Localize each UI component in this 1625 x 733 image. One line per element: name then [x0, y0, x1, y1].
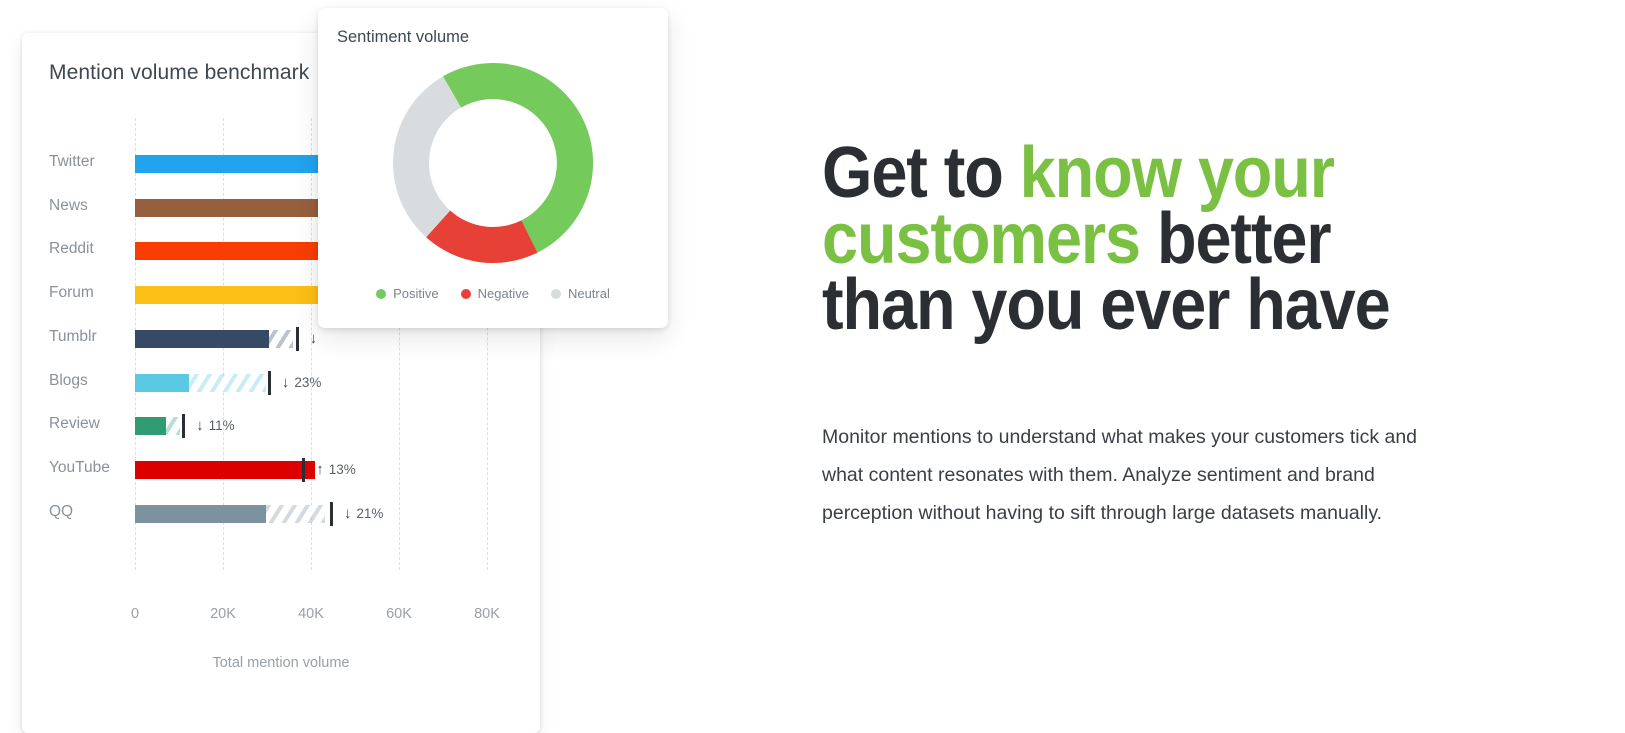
- bar-hatch-segment: [166, 417, 180, 435]
- delta-value: 13%: [329, 462, 356, 477]
- benchmark-marker: [296, 327, 299, 351]
- bar-label-forum: Forum: [49, 284, 139, 302]
- legend-label: Neutral: [568, 286, 610, 301]
- legend-dot-icon: [376, 289, 386, 299]
- bar-label-tumblr: Tumblr: [49, 328, 139, 346]
- arrow-down-icon: ↓: [282, 375, 290, 390]
- arrow-down-icon: ↓: [310, 331, 318, 346]
- x-axis-title: Total mention volume: [22, 655, 540, 671]
- bar-row-tumblr[interactable]: [135, 330, 540, 348]
- bar-hatch-segment: [266, 505, 325, 523]
- sentiment-donut-chart: [318, 56, 668, 271]
- bar-row-blogs[interactable]: [135, 374, 540, 392]
- legend-dot-icon: [551, 289, 561, 299]
- legend-dot-icon: [461, 289, 471, 299]
- bar-solid-segment: [135, 417, 166, 435]
- sentiment-card-title: Sentiment volume: [337, 28, 469, 47]
- delta-value: 11%: [209, 418, 235, 433]
- benchmark-marker: [182, 414, 185, 438]
- bar-solid-segment: [135, 505, 266, 523]
- delta-indicator-qq: ↓21%: [344, 506, 384, 521]
- bar-hatch-segment: [189, 374, 266, 392]
- x-tick-label: 0: [131, 606, 139, 622]
- hero-copy: Get to know your customers better than y…: [822, 140, 1522, 339]
- page-title: Get to know your customers better than y…: [822, 140, 1452, 339]
- legend-label: Negative: [478, 286, 529, 301]
- legend-item-neutral[interactable]: Neutral: [551, 286, 610, 301]
- arrow-down-icon: ↓: [344, 506, 352, 521]
- legend-label: Positive: [393, 286, 439, 301]
- bar-row-qq[interactable]: [135, 505, 540, 523]
- x-tick-label: 80K: [474, 606, 500, 622]
- bar-solid-segment: [135, 461, 315, 479]
- arrow-down-icon: ↓: [196, 418, 204, 433]
- x-tick-label: 40K: [298, 606, 324, 622]
- legend-item-negative[interactable]: Negative: [461, 286, 529, 301]
- page-root: Mention volume benchmark TwitterNewsRedd…: [0, 0, 1625, 695]
- bar-label-review: Review: [49, 415, 139, 433]
- delta-value: 21%: [356, 506, 383, 521]
- benchmark-marker: [268, 371, 271, 395]
- x-tick-label: 60K: [386, 606, 412, 622]
- delta-value: 23%: [294, 375, 321, 390]
- bar-solid-segment: [135, 330, 269, 348]
- benchmark-marker: [330, 502, 333, 526]
- sentiment-volume-card: Sentiment volume PositiveNegativeNeutral: [318, 8, 668, 328]
- x-tick-label: 20K: [210, 606, 236, 622]
- bar-hatch-segment: [269, 330, 293, 348]
- donut-svg: [318, 56, 668, 271]
- delta-indicator-youtube: ↑13%: [316, 462, 356, 477]
- delta-indicator-blogs: ↓23%: [282, 375, 322, 390]
- bar-label-youtube: YouTube: [49, 459, 139, 477]
- delta-indicator-review: ↓11%: [196, 418, 235, 433]
- bar-label-blogs: Blogs: [49, 372, 139, 390]
- arrow-up-icon: ↑: [316, 462, 324, 477]
- legend-item-positive[interactable]: Positive: [376, 286, 439, 301]
- sentiment-legend: PositiveNegativeNeutral: [318, 286, 668, 301]
- hero-body-text: Monitor mentions to understand what make…: [822, 418, 1462, 532]
- headline-line-3: than you ever have: [822, 265, 1390, 345]
- bar-label-qq: QQ: [49, 503, 139, 521]
- bar-label-twitter: Twitter: [49, 153, 139, 171]
- bar-solid-segment: [135, 374, 189, 392]
- benchmark-marker: [302, 458, 305, 482]
- delta-indicator-tumblr: ↓: [310, 331, 318, 346]
- bar-label-reddit: Reddit: [49, 240, 139, 258]
- bar-label-news: News: [49, 197, 139, 215]
